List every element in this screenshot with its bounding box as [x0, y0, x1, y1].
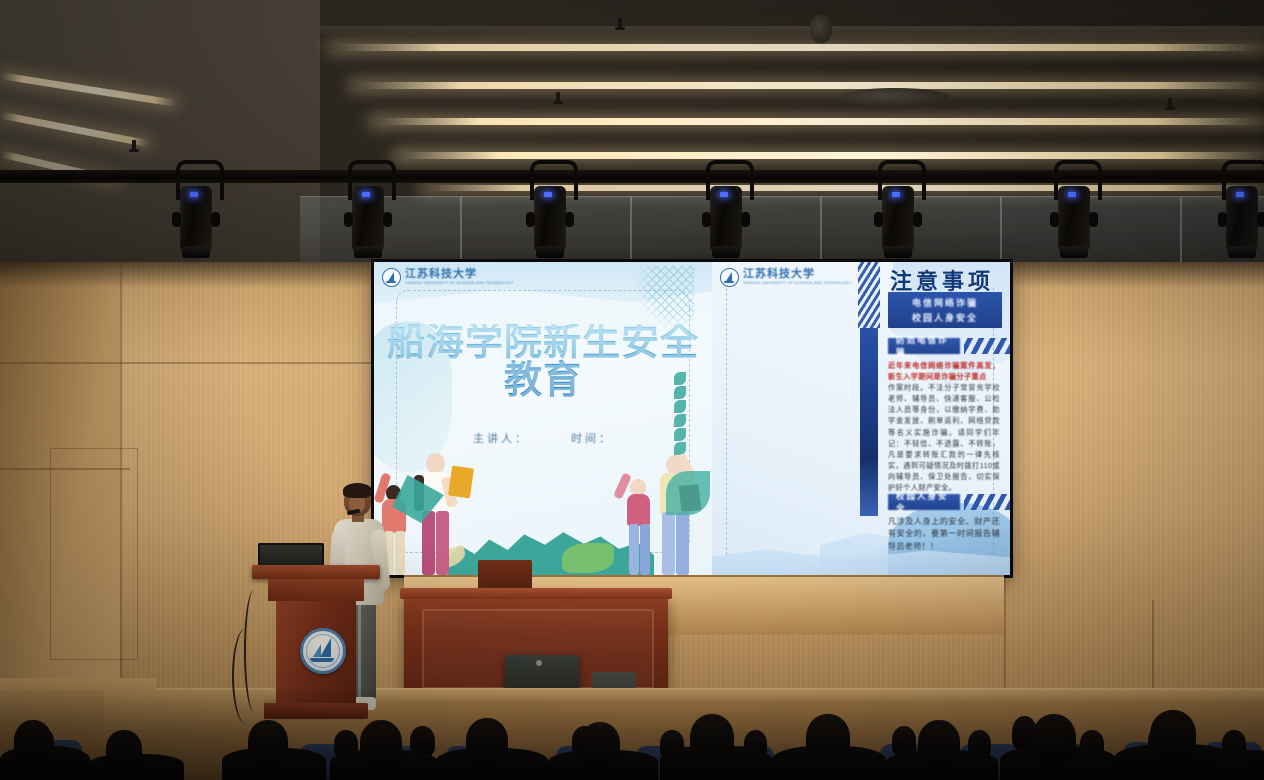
university-sailboat-emblem-icon: [300, 628, 346, 674]
slide-university-logo: 江苏科技大学 JIANGSU UNIVERSITY OF SCIENCE AND…: [382, 268, 514, 287]
slide-notice-page: 江苏科技大学 JIANGSU UNIVERSITY OF SCIENCE AND…: [712, 262, 1010, 575]
ceiling-band-left: [0, 0, 320, 262]
sprinkler-head: [556, 92, 560, 103]
audience-area: [0, 690, 1264, 780]
stage-spotlight: [524, 160, 576, 256]
audience-head: [106, 730, 142, 768]
stage-spotlight: [1048, 160, 1100, 256]
section-heading-2-label: 校园人身安全: [888, 494, 960, 510]
sprinkler-head: [1168, 98, 1172, 109]
ceiling-soffit-1: [300, 26, 1264, 38]
audience-head: [248, 720, 288, 764]
slide-notice-banner: 电信网络诈骗 校园人身安全: [888, 292, 1002, 328]
slide-hatch-decor: [858, 262, 880, 328]
slide-section-heading-1: 防范电信诈骗: [888, 338, 1010, 354]
lectern-neck: [268, 579, 364, 601]
banner-line-2: 校园人身安全: [912, 311, 978, 324]
slide-section-heading-2: 校园人身安全: [888, 494, 1010, 510]
audience-head: [1150, 710, 1196, 760]
stage-spotlight: [170, 160, 222, 256]
sprinkler-head: [618, 18, 622, 29]
sprinkler-head: [132, 140, 136, 151]
section-slash-decor: [964, 338, 1010, 354]
ceiling-strip-light: [372, 118, 1264, 125]
stage-spotlight: [700, 160, 752, 256]
slide-green-leaf: [562, 543, 614, 573]
section-heading-1-label: 防范电信诈骗: [888, 338, 960, 354]
ceiling-vent: [840, 88, 950, 106]
university-emblem-icon: [720, 268, 739, 287]
audience-head: [360, 720, 402, 766]
ceiling-speaker-dome: [810, 15, 832, 43]
slide-blue-sidebar: [860, 328, 878, 516]
logo-cn-text: 江苏科技大学: [743, 269, 852, 280]
slide-dashed-left: [726, 288, 855, 555]
logo-en-text: JIANGSU UNIVERSITY OF SCIENCE AND TECHNO…: [743, 282, 852, 286]
slide-university-logo: 江苏科技大学 JIANGSU UNIVERSITY OF SCIENCE AND…: [720, 268, 852, 287]
section-slash-decor: [964, 494, 1010, 510]
slide-title-page: 江苏科技大学 JIANGSU UNIVERSITY OF SCIENCE AND…: [374, 262, 712, 575]
ceiling-strip-light: [330, 44, 1264, 51]
audience-head: [580, 722, 620, 766]
lectern-top: [252, 565, 380, 579]
ceiling-strip-light: [352, 82, 1264, 89]
ceiling-strip-light: [396, 152, 1264, 159]
slide-section-1-body: 作案时段。不法分子常冒充学校老师、辅导员、快递客服、公检法人员等身份，以缴纳学费…: [888, 382, 1000, 494]
wall-seam: [0, 362, 374, 364]
audience-head: [918, 720, 960, 766]
stage-spotlight: [1216, 160, 1264, 256]
slide-section-1-highlight: 近年来电信网络诈骗案件高发，新生入学期间是诈骗分子重点: [888, 360, 1000, 382]
audience-head: [806, 714, 850, 762]
audience-head: [690, 714, 734, 762]
slide-subtitle-presenter: 主讲人：: [473, 433, 529, 445]
stage-spotlight: [342, 160, 394, 256]
ceiling: [0, 0, 1264, 262]
balcony-glass-rail: [300, 196, 1264, 262]
banner-line-1: 电信网络诈骗: [912, 296, 978, 309]
audience-head: [1032, 714, 1076, 762]
slide-teal-shape: [392, 475, 444, 523]
slide-section-2-body: 凡涉及人身上的安全、财产还有安全的，要第一时间报告辅导员老师！！: [888, 516, 1000, 553]
slide-teal-shape: [666, 471, 710, 515]
slide-subtitle-time: 时间：: [571, 433, 613, 445]
wall-seam: [1152, 600, 1154, 696]
slide-subtitle: 主讲人： 时间：: [374, 430, 712, 446]
audience-head: [14, 720, 52, 762]
logo-en-text: JIANGSU UNIVERSITY OF SCIENCE AND TECHNO…: [405, 282, 514, 286]
audience-shoulders: [1212, 750, 1264, 780]
presenter-hair: [343, 483, 372, 498]
audience-head: [466, 718, 508, 764]
stage-spotlight: [872, 160, 924, 256]
slide-title: 船海学院新生安全教育: [374, 324, 712, 400]
auditorium-photo: 江苏科技大学 JIANGSU UNIVERSITY OF SCIENCE AND…: [0, 0, 1264, 780]
logo-cn-text: 江苏科技大学: [405, 269, 514, 280]
projection-screen: 江苏科技大学 JIANGSU UNIVERSITY OF SCIENCE AND…: [374, 262, 1010, 575]
university-emblem-icon: [382, 268, 401, 287]
wall-inset-panel: [50, 448, 138, 660]
